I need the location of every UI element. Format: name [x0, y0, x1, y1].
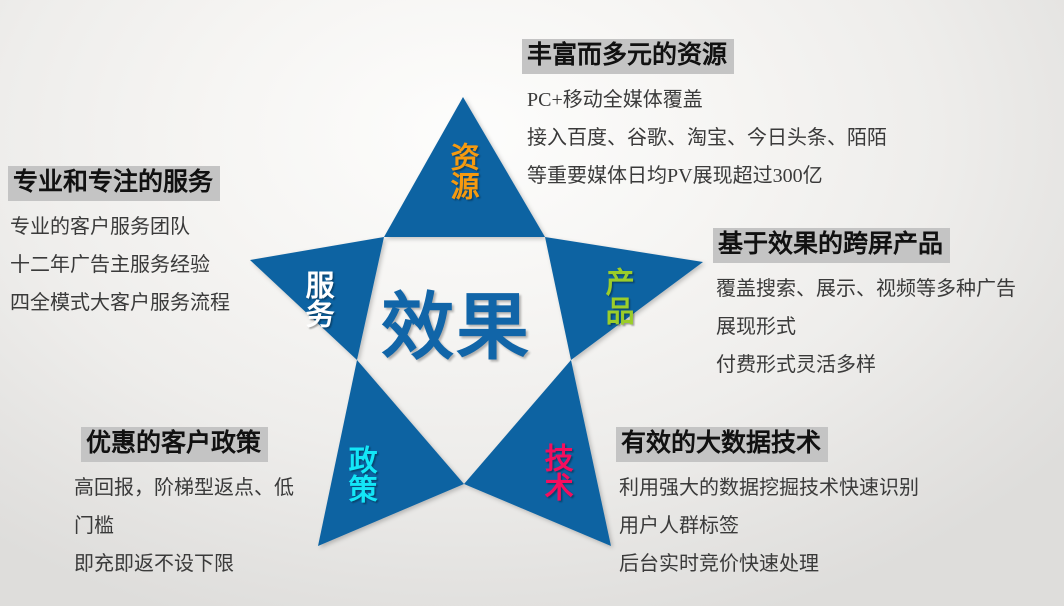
callout-tech: 有效的大数据技术 利用强大的数据挖掘技术快速识别 用户人群标签 后台实时竞价快速…	[616, 427, 919, 584]
callout-resource-heading: 丰富而多元的资源	[522, 39, 734, 74]
callout-resource: 丰富而多元的资源 PC+移动全媒体覆盖 接入百度、谷歌、淘宝、今日头条、陌陌 等…	[518, 39, 887, 196]
callout-service-line-3: 四全模式大客户服务流程	[10, 284, 230, 322]
star-label-policy: 政策	[341, 445, 378, 503]
slide-canvas: 资源 服务 产品 政策 技术 效果 丰富而多元的资源 PC+移动全媒体覆盖 接入…	[0, 0, 1064, 606]
callout-tech-line-3: 后台实时竞价快速处理	[619, 545, 919, 583]
callout-tech-line-2: 用户人群标签	[619, 507, 919, 545]
star-point-policy[interactable]	[318, 360, 464, 546]
star-label-product: 产品	[598, 267, 635, 325]
callout-product-line-2: 展现形式	[716, 308, 1016, 346]
callout-service-heading: 专业和专注的服务	[8, 166, 220, 201]
callout-tech-line-1: 利用强大的数据挖掘技术快速识别	[619, 469, 919, 507]
callout-policy-heading: 优惠的客户政策	[81, 427, 268, 462]
star-label-resource: 资源	[443, 142, 480, 200]
callout-service-line-1: 专业的客户服务团队	[10, 208, 230, 246]
callout-policy: 优惠的客户政策 高回报，阶梯型返点、低 门槛 即充即返不设下限	[70, 427, 294, 584]
callout-policy-line-3: 即充即返不设下限	[74, 545, 294, 583]
callout-tech-heading: 有效的大数据技术	[616, 427, 828, 462]
callout-resource-line-1: PC+移动全媒体覆盖	[527, 81, 887, 119]
callout-product-line-1: 覆盖搜索、展示、视频等多种广告	[716, 270, 1016, 308]
callout-resource-line-3: 等重要媒体日均PV展现超过300亿	[527, 157, 887, 195]
callout-product-line-3: 付费形式灵活多样	[716, 346, 1016, 384]
callout-resource-line-2: 接入百度、谷歌、淘宝、今日头条、陌陌	[527, 119, 887, 157]
callout-policy-line-1: 高回报，阶梯型返点、低	[74, 469, 294, 507]
star-label-tech: 技术	[537, 443, 574, 501]
star-center-label: 效果	[381, 291, 531, 364]
callout-product: 基于效果的跨屏产品 覆盖搜索、展示、视频等多种广告 展现形式 付费形式灵活多样	[713, 228, 1016, 385]
callout-service: 专业和专注的服务 专业的客户服务团队 十二年广告主服务经验 四全模式大客户服务流…	[8, 166, 230, 323]
star-label-service: 服务	[298, 270, 335, 328]
callout-product-heading: 基于效果的跨屏产品	[713, 228, 950, 263]
callout-policy-line-2: 门槛	[74, 507, 294, 545]
callout-service-line-2: 十二年广告主服务经验	[10, 246, 230, 284]
